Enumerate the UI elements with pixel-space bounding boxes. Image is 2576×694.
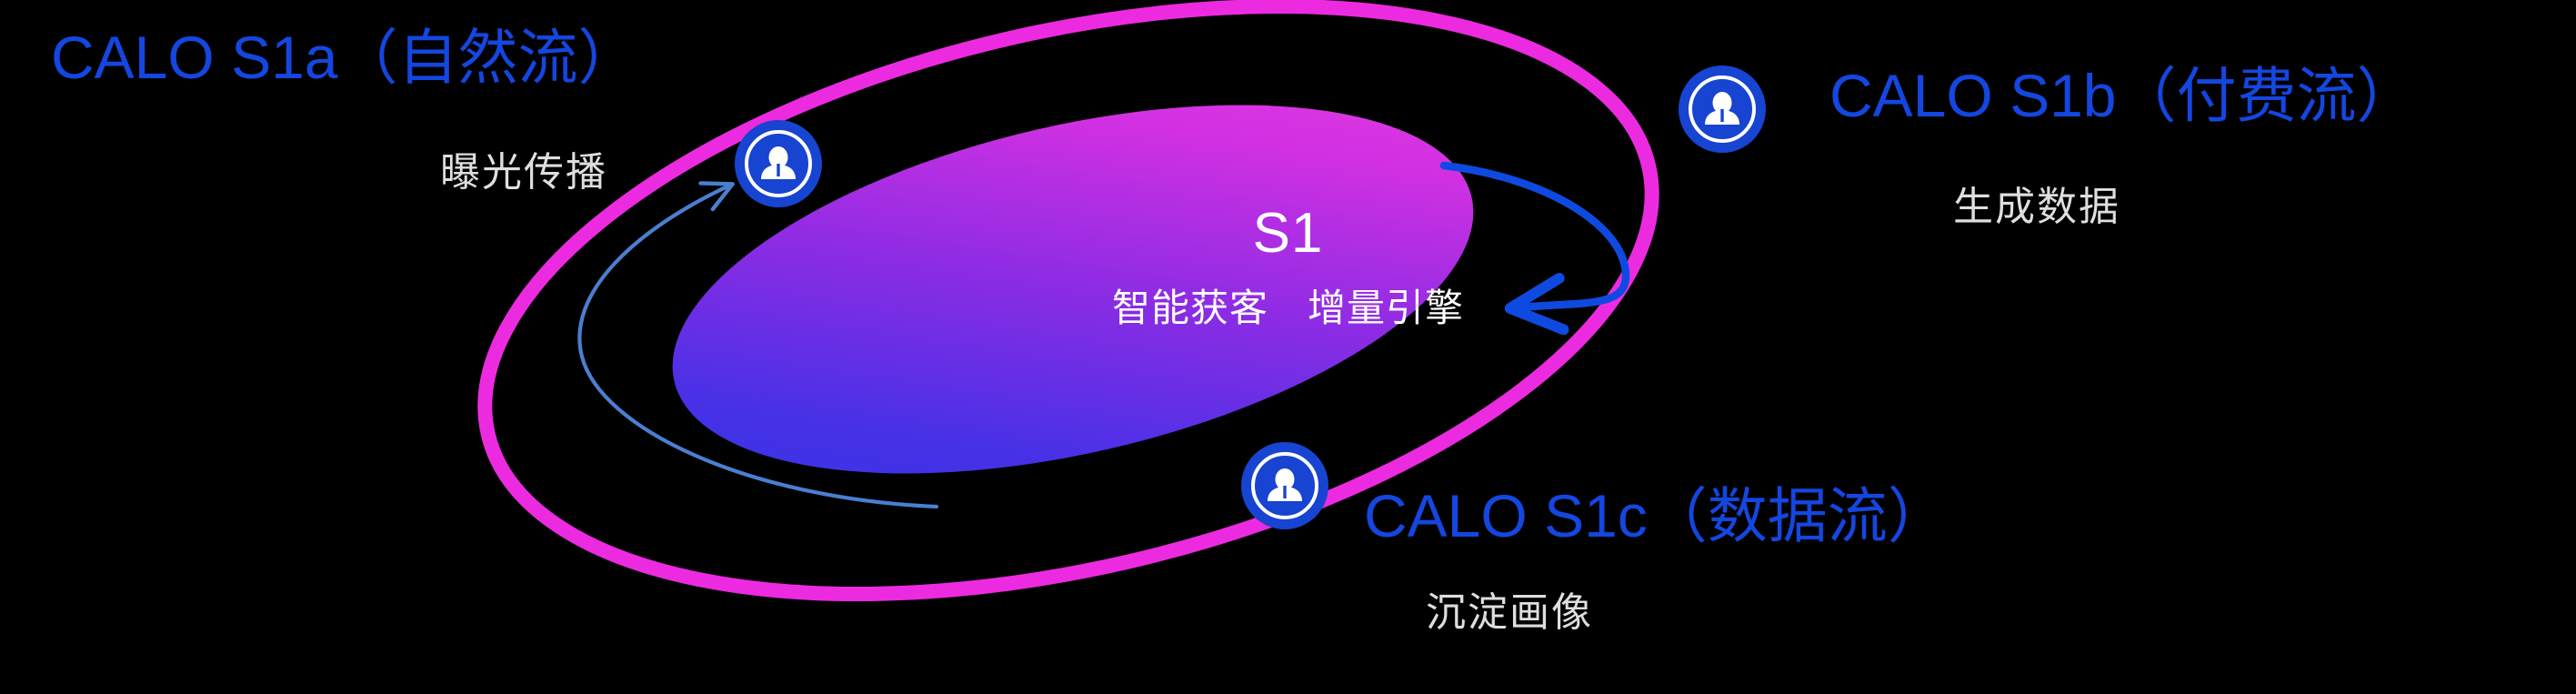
- node-icon-s1c[interactable]: [1241, 442, 1328, 529]
- node-label-s1c[interactable]: CALO S1c（数据流）: [1364, 486, 1948, 546]
- node-caption-s1c: 沉淀画像: [1426, 593, 1593, 633]
- core-subtitle: 智能获客 增量引擎: [0, 289, 2576, 327]
- node-label-s1a[interactable]: CALO S1a（自然流）: [51, 27, 638, 87]
- diagram-canvas: S1 智能获客 增量引擎 CALO S1a（自然流） 曝光传播 CALO S1b…: [0, 0, 2576, 694]
- node-icon-s1b[interactable]: [1679, 65, 1766, 153]
- node-icon-s1a[interactable]: [735, 120, 822, 207]
- node-label-s1b[interactable]: CALO S1b（付费流）: [1829, 65, 2417, 126]
- node-caption-s1a: 曝光传播: [440, 153, 607, 193]
- node-caption-s1b: 生成数据: [1953, 187, 2120, 227]
- core-title: S1: [0, 206, 2576, 262]
